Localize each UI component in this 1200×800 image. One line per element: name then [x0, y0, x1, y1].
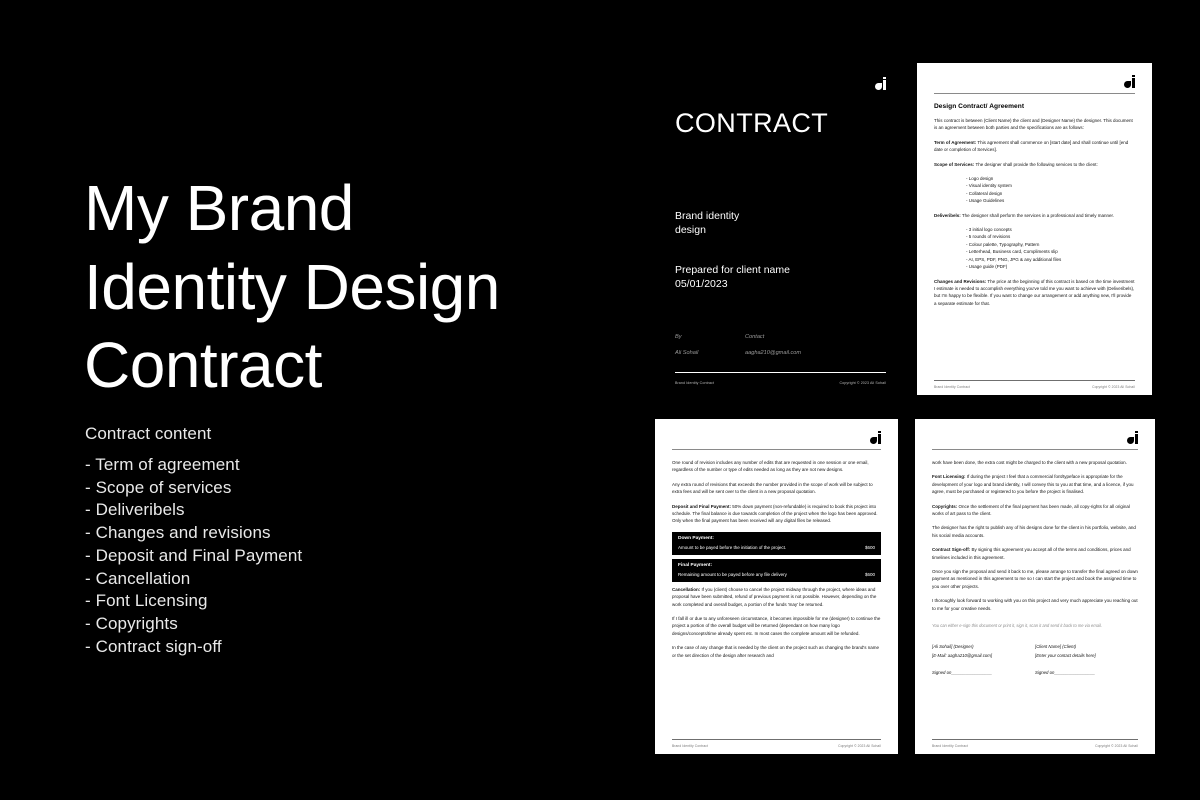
list-item: - Font Licensing [85, 590, 302, 613]
final-payment-amount: $600 [865, 572, 875, 577]
final-payment-desc: Remaining amount to be payed before any … [678, 572, 787, 577]
paragraph-portfolio: The designer has the right to publish an… [932, 524, 1138, 539]
document-page-2[interactable]: Design Contract/ Agreement This contract… [917, 63, 1152, 395]
logo-row [932, 431, 1138, 444]
paragraph-intro: This contract is between (Client Name) t… [934, 117, 1135, 132]
client-contact: [Enter your contact details here] [1035, 652, 1138, 661]
label-term: Term of Agreement: [934, 140, 976, 145]
client-name: [Client Name] (Client) [1035, 643, 1138, 652]
divider [675, 372, 886, 373]
paragraph-transfer: Once you sign the proposal and send it b… [932, 568, 1138, 590]
divider [672, 739, 881, 740]
paragraph-closing: I thoroughly look forward to working wit… [932, 597, 1138, 612]
footer-left: Brand Identity Contract [934, 385, 970, 389]
paragraph-revision-1: One round of revision includes any numbe… [672, 459, 881, 474]
scope-items: - Logo design - Visual identity system -… [934, 175, 1135, 205]
contract-content-heading: Contract content [85, 424, 211, 444]
page-footer: Brand Identity Contract Copyright © 2023… [672, 739, 881, 748]
brand-monogram-icon [875, 77, 886, 90]
page-footer: Brand Identity Contract Copyright © 2023… [934, 380, 1135, 389]
page-footer: Brand Identity Contract Copyright © 2023… [932, 739, 1138, 748]
list-item: - 3 initial logo concepts [966, 226, 1135, 233]
list-item: - Deliveribels [85, 499, 302, 522]
label-cancellation: Cancellation: [672, 587, 700, 592]
section-heading: Design Contract/ Agreement [934, 103, 1135, 110]
list-item: - Deposit and Final Payment [85, 545, 302, 568]
text-cancellation: If you (client) choose to cancel the pro… [672, 587, 876, 607]
logo-row [672, 431, 881, 444]
final-payment-title: Final Payment: [678, 563, 875, 568]
paragraph-changes: Changes and Revisions: The price at the … [934, 278, 1135, 308]
cover-by-label: By [675, 333, 745, 341]
cover-by-value: Ali Sohail [675, 349, 745, 357]
brand-monogram-icon [1127, 431, 1138, 444]
paragraph-term: Term of Agreement: This agreement shall … [934, 139, 1135, 154]
footer-right: Copyright © 2023 Ali Sohail [1092, 385, 1135, 389]
label-changes: Changes and Revisions: [934, 279, 986, 284]
label-copyrights: Copyrights: [932, 504, 957, 509]
page-title: My Brand Identity Design Contract [84, 169, 500, 405]
document-page-4[interactable]: work have been done, the extra cost migh… [915, 419, 1155, 754]
divider [932, 449, 1138, 450]
footer-right: Copyright © 2023 Ali Sohail [839, 381, 886, 385]
list-item: - Usage Guidelines [966, 197, 1135, 204]
down-payment-title: Down Payment: [678, 536, 875, 541]
footer-right: Copyright © 2023 Ali Sohail [1095, 744, 1138, 748]
divider [934, 93, 1135, 94]
divider [934, 380, 1135, 381]
paragraph-cancellation: Cancellation: If you (client) choose to … [672, 586, 881, 608]
footer-left: Brand Identity Contract [932, 744, 968, 748]
down-payment-desc: Amount to be payed before the initiation… [678, 545, 786, 550]
cover-title: CONTRACT [675, 110, 886, 137]
contract-content-list: - Term of agreement - Scope of services … [85, 454, 302, 658]
esign-note: You can either e-sign this document or p… [932, 622, 1138, 629]
list-item: - Visual identity system [966, 182, 1135, 189]
footer-right: Copyright © 2023 Ali Sohail [838, 744, 881, 748]
designer-signature[interactable]: [Ali Sohail] (Designer) [E-Mail: aagha21… [932, 643, 1035, 678]
paragraph-scope: Scope of Services: The designer shall pr… [934, 161, 1135, 168]
footer-left: Brand Identity Contract [672, 744, 708, 748]
client-signed-on[interactable]: Signed on_________________ [1035, 669, 1138, 678]
designer-signed-on[interactable]: Signed on_________________ [932, 669, 1035, 678]
list-item: - Scope of services [85, 477, 302, 500]
logo-row [934, 75, 1135, 88]
cover-contact: Contact aagha210@gmail.com [745, 325, 815, 365]
cover-subject: Brand identity design [675, 209, 886, 237]
label-font-licensing: Font Licensing: [932, 474, 966, 479]
final-payment-box: Final Payment: Remaining amount to be pa… [672, 559, 881, 582]
cover-by: By Ali Sohail [675, 325, 745, 365]
text-copyrights: Once the settlement of the final payment… [932, 504, 1130, 516]
down-payment-amount: $600 [865, 545, 875, 550]
footer-left: Brand Identity Contract [675, 381, 714, 385]
label-scope: Scope of Services: [934, 162, 974, 167]
cover-prepared-for: Prepared for client name 05/01/2023 [675, 264, 886, 291]
designer-name: [Ali Sohail] (Designer) [932, 643, 1035, 652]
label-deposit: Deposit and Final Payment: [672, 504, 731, 509]
cover-meta: By Ali Sohail Contact aagha210@gmail.com [675, 325, 886, 365]
signature-block: [Ali Sohail] (Designer) [E-Mail: aagha21… [932, 643, 1138, 678]
list-item: - Contract sign-off [85, 636, 302, 659]
intro-panel: My Brand Identity Design Contract Contra… [0, 0, 620, 800]
page-footer: Brand Identity Contract Copyright © 2023… [675, 381, 886, 385]
cover-contact-value: aagha210@gmail.com [745, 349, 815, 357]
paragraph-deliverables: Deliveribels: The designer shall perform… [934, 212, 1135, 219]
list-item: - Copyrights [85, 613, 302, 636]
divider [672, 449, 881, 450]
text-scope: The designer shall provide the following… [974, 162, 1097, 167]
paragraph-illness: If I fall ill or due to any unforeseen c… [672, 615, 881, 637]
paragraph-revision-2: Any extra round of revisions that exceed… [672, 481, 881, 496]
paragraph-change: In the case of any change that is needed… [672, 644, 881, 659]
deliverables-items: - 3 initial logo concepts - 5 rounds of … [934, 226, 1135, 270]
list-item: - Logo design [966, 175, 1135, 182]
document-page-cover[interactable]: CONTRACT Brand identity design Prepared … [653, 63, 908, 395]
logo-row [675, 77, 886, 90]
paragraph-copyrights: Copyrights: Once the settlement of the f… [932, 503, 1138, 518]
paragraph-font-licensing: Font Licensing: If during the project I … [932, 473, 1138, 495]
document-preview-grid: CONTRACT Brand identity design Prepared … [620, 0, 1200, 800]
list-item: - 5 rounds of revisions [966, 233, 1135, 240]
down-payment-box: Down Payment: Amount to be payed before … [672, 532, 881, 555]
list-item: - Changes and revisions [85, 522, 302, 545]
brand-monogram-icon [870, 431, 881, 444]
list-item: - Usage guide (PDF) [966, 263, 1135, 270]
list-item: - AI, EPS, PDF, PNG, JPG & any additiona… [966, 256, 1135, 263]
list-item: - Cancellation [85, 568, 302, 591]
paragraph-extra-cost: work have been done, the extra cost migh… [932, 459, 1138, 466]
brand-monogram-icon [1124, 75, 1135, 88]
divider [932, 739, 1138, 740]
list-item: - Colour palette, Typography, Pattern [966, 241, 1135, 248]
client-signature[interactable]: [Client Name] (Client) [Enter your conta… [1035, 643, 1138, 678]
cover-contact-label: Contact [745, 333, 815, 341]
text-deliverables: The designer shall perform the services … [961, 213, 1114, 218]
designer-email: [E-Mail: aagha210@gmail.com] [932, 652, 1035, 661]
list-item: - Term of agreement [85, 454, 302, 477]
label-deliverables: Deliveribels: [934, 213, 961, 218]
paragraph-deposit: Deposit and Final Payment: 50% down paym… [672, 503, 881, 525]
document-page-3[interactable]: One round of revision includes any numbe… [655, 419, 898, 754]
label-signoff: Contract Sign-off: [932, 547, 970, 552]
list-item: - Collateral design [966, 190, 1135, 197]
paragraph-signoff: Contract Sign-off: By signing this agree… [932, 546, 1138, 561]
list-item: - Letterhead, Business card, Compliments… [966, 248, 1135, 255]
